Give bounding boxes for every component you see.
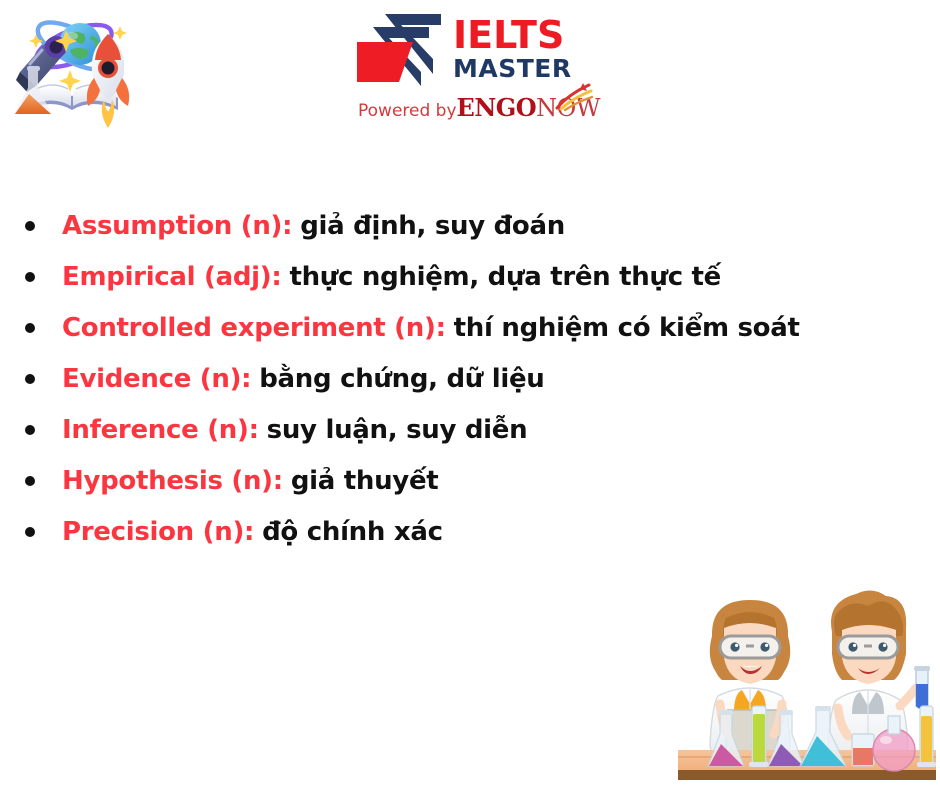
bullet-icon: [25, 221, 35, 231]
vocab-gloss: độ chính xác: [262, 517, 443, 547]
vocab-gloss: suy luận, suy diễn: [267, 415, 528, 445]
bullet-icon: [25, 374, 35, 384]
cylinder-yellow-icon: [917, 706, 936, 767]
list-item: Precision (n): độ chính xác: [14, 506, 914, 557]
brand-title-secondary: MASTER: [453, 56, 572, 81]
science-emoji-illustration: [8, 6, 140, 132]
brand-title-primary: IELTS: [453, 16, 572, 54]
vocab-term: Controlled experiment (n):: [62, 313, 446, 343]
vocab-term: Assumption (n):: [62, 211, 292, 241]
beaker-red-icon: [852, 734, 874, 766]
slide-root: { "page": { "background_color": "#FFFFFF…: [0, 0, 940, 788]
bullet-icon: [25, 527, 35, 537]
list-item: Empirical (adj): thực nghiệm, dựa trên t…: [14, 251, 914, 302]
vocab-gloss: giả thuyết: [291, 466, 439, 496]
list-item: Hypothesis (n): giả thuyết: [14, 455, 914, 506]
powered-by-brand-bold: ENGO: [457, 93, 537, 122]
safety-goggles-icon: [720, 636, 780, 658]
powered-by-prefix: Powered by: [358, 101, 457, 121]
telescope-icon: [16, 36, 67, 92]
test-tube-icon: [914, 666, 930, 709]
engonow-swoosh-icon: [553, 82, 593, 112]
brand-wordmark: IELTS MASTER: [453, 16, 572, 81]
bullet-icon: [25, 272, 35, 282]
vocab-term: Empirical (adj):: [62, 262, 281, 292]
ielts-master-logo: IELTS MASTER Powered byENGONOW: [355, 12, 585, 122]
powered-by-line: Powered byENGONOW: [358, 96, 600, 120]
vocabulary-list: Assumption (n): giả định, suy đoán Empir…: [14, 200, 914, 557]
vocab-gloss: giả định, suy đoán: [300, 211, 565, 241]
safety-goggles-icon: [838, 636, 898, 658]
vocab-term: Inference (n):: [62, 415, 259, 445]
kids-science-lab-illustration: [676, 584, 938, 788]
list-item: Inference (n): suy luận, suy diễn: [14, 404, 914, 455]
vocab-term: Hypothesis (n):: [62, 466, 283, 496]
ielts-master-logo-mark: [355, 12, 447, 88]
list-item: Evidence (n): bằng chứng, dữ liệu: [14, 353, 914, 404]
list-item: Controlled experiment (n): thí nghiệm có…: [14, 302, 914, 353]
vocab-term: Evidence (n):: [62, 364, 251, 394]
vocab-gloss: bằng chứng, dữ liệu: [259, 364, 544, 394]
bullet-icon: [25, 425, 35, 435]
brand-row: IELTS MASTER: [355, 12, 572, 88]
bullet-icon: [25, 323, 35, 333]
cylinder-green-icon: [749, 706, 769, 767]
bullet-icon: [25, 476, 35, 486]
vocab-gloss: thực nghiệm, dựa trên thực tế: [289, 262, 721, 292]
vocab-gloss: thí nghiệm có kiểm soát: [454, 313, 800, 343]
list-item: Assumption (n): giả định, suy đoán: [14, 200, 914, 251]
vocab-term: Precision (n):: [62, 517, 254, 547]
